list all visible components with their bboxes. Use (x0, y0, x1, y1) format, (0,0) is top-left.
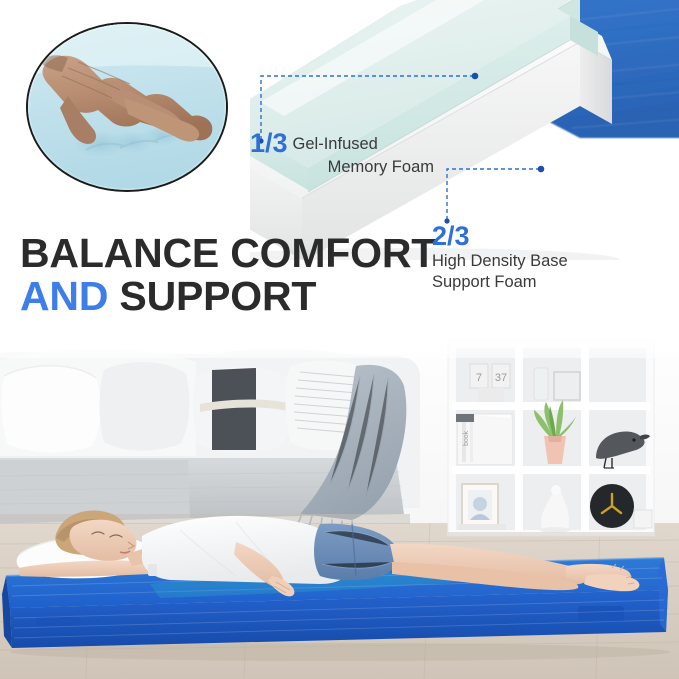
callout-1-fraction: 1/3 (250, 128, 288, 158)
shelf-books: book (456, 414, 512, 464)
headline-line-1: BALANCE COMFORT (20, 230, 436, 276)
svg-text:37: 37 (495, 372, 507, 384)
top-info-panel: BALANCE COMFORT AND SUPPORT 1/3Gel-Infus… (0, 0, 679, 340)
svg-text:7: 7 (476, 372, 482, 384)
callout-2-line-2: Support Foam (432, 272, 632, 293)
cushion-grey-black (193, 366, 291, 452)
cushion-grey (100, 362, 190, 450)
gel-foam-hand-inset (26, 22, 228, 192)
headline-accent-and: AND (20, 273, 108, 319)
cushion-white-left (1, 366, 101, 453)
callout-gel-layer: 1/3Gel-Infused Memory Foam (250, 130, 440, 178)
callout-1-line-2: Memory Foam (250, 157, 440, 178)
callout-2-line-1: High Density Base (432, 251, 632, 272)
headline: BALANCE COMFORT AND SUPPORT (20, 232, 436, 319)
lifestyle-photo: 7 37 book (0, 318, 679, 679)
headline-line-2-rest: SUPPORT (108, 273, 316, 319)
svg-text:book: book (463, 430, 470, 446)
callout-base-layer: 2/3 High Density Base Support Foam (432, 222, 632, 294)
shelf-picture-frame (458, 484, 506, 530)
callout-1-line-1: Gel-Infused (293, 135, 378, 153)
sofa (0, 349, 420, 535)
cube-shelf-unit: 7 37 book (448, 340, 654, 537)
callout-2-fraction: 2/3 (432, 222, 632, 250)
headline-line-2: AND SUPPORT (20, 275, 436, 318)
product-feature-image: BALANCE COMFORT AND SUPPORT 1/3Gel-Infus… (0, 0, 679, 679)
